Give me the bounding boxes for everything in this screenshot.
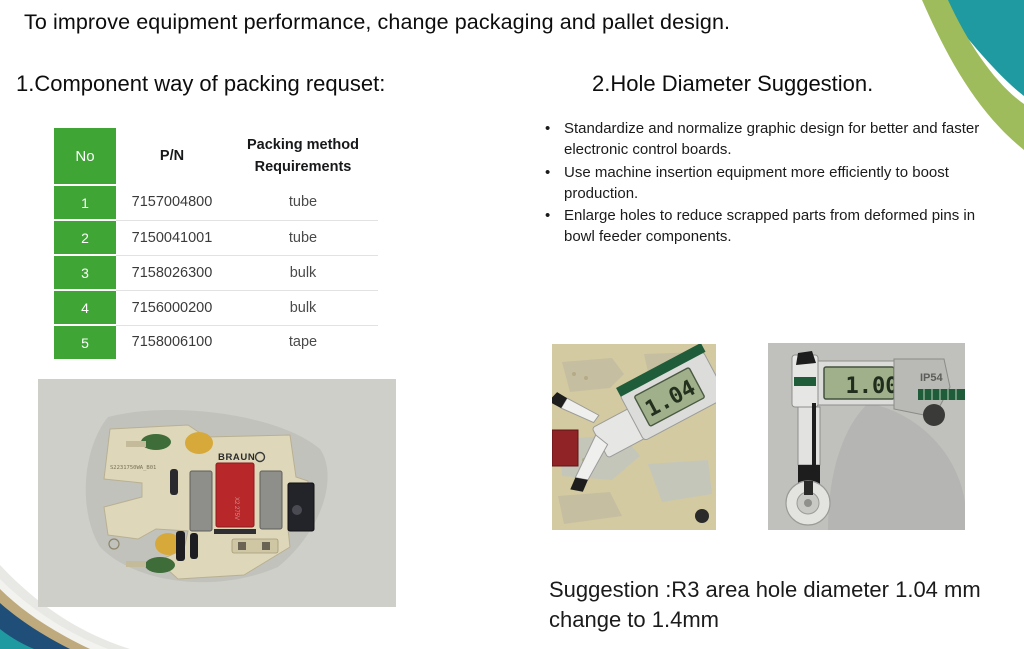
bullet-dot-icon: •: [545, 162, 550, 183]
cell-no: 2: [54, 220, 116, 255]
cell-packing-method: tape: [228, 325, 378, 359]
table-row: 57158006100tape: [54, 325, 378, 359]
bullet-dot-icon: •: [545, 205, 550, 226]
photo-control-board-image: S2231750WA_B01 BRAUN X2 275V: [38, 379, 396, 607]
column-header-packing-line2: Requirements: [255, 159, 352, 175]
cell-part-number: 7156000200: [116, 290, 228, 325]
cell-no: 3: [54, 255, 116, 290]
bullet-text: Use machine insertion equipment more eff…: [564, 164, 949, 202]
cell-no: 5: [54, 325, 116, 359]
photo-caliper-pin-measurement-image: 1.00 IP54: [768, 343, 965, 530]
column-header-no: No: [54, 128, 116, 185]
bullet-dot-icon: •: [545, 118, 550, 139]
table-row: 37158026300bulk: [54, 255, 378, 290]
cell-part-number: 7150041001: [116, 220, 228, 255]
cell-packing-method: tube: [228, 220, 378, 255]
hole-diameter-bullet-list: •Standardize and normalize graphic desig…: [540, 118, 990, 249]
packing-method-table: No P/N Packing method Requirements 17157…: [54, 128, 378, 359]
bullet-item: •Standardize and normalize graphic desig…: [540, 118, 990, 161]
cell-no: 4: [54, 290, 116, 325]
photo-caliper-hole-measurement: 1.04: [552, 344, 716, 530]
photo-control-board: S2231750WA_B01 BRAUN X2 275V: [38, 379, 396, 607]
cell-packing-method: bulk: [228, 255, 378, 290]
bullet-text: Standardize and normalize graphic design…: [564, 120, 979, 158]
photo-caliper-hole-measurement-image: 1.04: [552, 344, 716, 530]
column-header-packing-method: Packing method Requirements: [228, 128, 378, 185]
slide-title: To improve equipment performance, change…: [24, 10, 730, 35]
svg-text:IP54: IP54: [920, 372, 944, 384]
cell-no: 1: [54, 185, 116, 220]
section-heading-hole-diameter: 2.Hole Diameter Suggestion.: [592, 71, 873, 97]
bullet-item: •Enlarge holes to reduce scrapped parts …: [540, 205, 990, 248]
svg-text:1.00: 1.00: [846, 374, 899, 399]
cell-part-number: 7158006100: [116, 325, 228, 359]
photo-caliper-pin-measurement: 1.00 IP54: [768, 343, 965, 530]
table-row: 47156000200bulk: [54, 290, 378, 325]
cell-packing-method: tube: [228, 185, 378, 220]
table-row: 17157004800tube: [54, 185, 378, 220]
cell-part-number: 7157004800: [116, 185, 228, 220]
bullet-text: Enlarge holes to reduce scrapped parts f…: [564, 207, 975, 245]
suggestion-text: Suggestion :R3 area hole diameter 1.04 m…: [549, 575, 1009, 636]
slide-canvas: To improve equipment performance, change…: [0, 0, 1024, 649]
bullet-item: •Use machine insertion equipment more ef…: [540, 162, 990, 205]
table-header-row: No P/N Packing method Requirements: [54, 128, 378, 185]
column-header-pn: P/N: [116, 128, 228, 185]
svg-text:X2 275V: X2 275V: [233, 497, 239, 520]
cell-part-number: 7158026300: [116, 255, 228, 290]
column-header-packing-line1: Packing method: [247, 137, 359, 153]
section-heading-packing: 1.Component way of packing requset:: [16, 71, 385, 97]
svg-text:S2231750WA_B01: S2231750WA_B01: [110, 465, 156, 471]
table-row: 27150041001tube: [54, 220, 378, 255]
cell-packing-method: bulk: [228, 290, 378, 325]
svg-text:BRAUN: BRAUN: [218, 452, 255, 463]
